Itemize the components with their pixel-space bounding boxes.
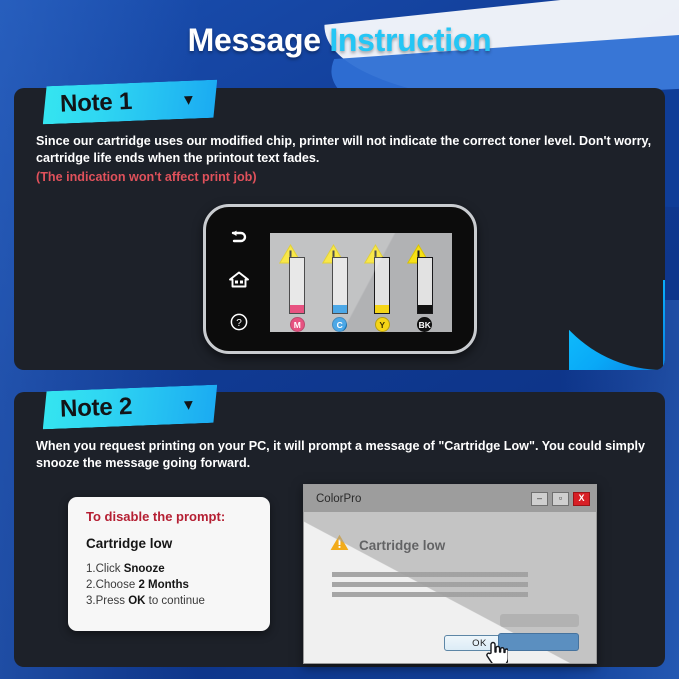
toner-level-list: MCYBK	[270, 233, 452, 332]
disable-prompt-card: To disable the prompt: Cartridge low 1.C…	[68, 497, 270, 631]
minimize-icon[interactable]: –	[531, 492, 548, 506]
dialog-heading-row: Cartridge low	[330, 534, 445, 556]
chevron-down-icon: ▼	[181, 397, 196, 413]
toner-tank: Y	[367, 257, 397, 332]
maximize-icon[interactable]: ▫	[552, 492, 569, 506]
toner-tube	[289, 257, 305, 314]
list-item: 1.Click Snooze	[86, 561, 254, 577]
note1-body-text: Since our cartridge uses our modified ch…	[36, 134, 651, 165]
toner-color-badge: Y	[375, 317, 390, 332]
list-item: 2.Choose 2 Months	[86, 577, 254, 593]
note1-tab[interactable]: Note 1 ▼	[41, 80, 218, 125]
dialog-placeholder-lines	[332, 572, 528, 602]
note1-corner-glow	[569, 280, 665, 370]
toner-tube	[417, 257, 433, 314]
placeholder-line	[332, 582, 528, 587]
chevron-down-icon: ▼	[181, 92, 196, 108]
disable-prompt-title: To disable the prompt:	[86, 509, 254, 524]
home-icon[interactable]	[229, 271, 249, 288]
printer-control-panel: ? MCYBK	[203, 204, 477, 354]
cartridge-low-dialog: ColorPro – ▫ X Cartridge low OK	[303, 484, 597, 664]
disable-prompt-subtitle: Cartridge low	[86, 536, 254, 551]
dialog-heading: Cartridge low	[359, 538, 445, 553]
instruction-graphic: Message Instruction Note 1 ▼ Since our c…	[0, 0, 679, 679]
note1-body: Since our cartridge uses our modified ch…	[36, 133, 664, 186]
dialog-window-buttons: – ▫ X	[531, 492, 590, 506]
toner-color-badge: BK	[417, 317, 432, 332]
toner-tank: M	[282, 257, 312, 332]
toner-tank: BK	[410, 257, 440, 332]
printer-screen: MCYBK	[270, 233, 452, 332]
dialog-title-bar: ColorPro – ▫ X	[304, 485, 596, 512]
warning-triangle-icon	[330, 534, 349, 556]
close-icon[interactable]: X	[573, 492, 590, 506]
toner-color-badge: C	[332, 317, 347, 332]
toner-fill	[418, 305, 432, 313]
disable-prompt-steps: 1.Click Snooze2.Choose 2 Months3.Press O…	[86, 561, 254, 609]
page-title: Message Instruction	[0, 20, 679, 60]
dialog-title: ColorPro	[316, 493, 361, 505]
note2-tab-label: Note 2	[60, 395, 133, 422]
note1-body-note: (The indication won't affect print job)	[36, 169, 664, 186]
secondary-button[interactable]	[498, 633, 579, 651]
dialog-gray-field	[500, 614, 579, 627]
toner-fill	[290, 305, 304, 313]
note2-body: When you request printing on your PC, it…	[36, 438, 664, 472]
toner-tube	[332, 257, 348, 314]
toner-color-badge: M	[290, 317, 305, 332]
back-arrow-icon[interactable]	[229, 230, 249, 246]
note2-tab[interactable]: Note 2 ▼	[41, 385, 218, 430]
help-icon[interactable]: ?	[230, 313, 248, 331]
note1-tab-label: Note 1	[60, 90, 133, 117]
list-item: 3.Press OK to continue	[86, 593, 254, 609]
svg-text:?: ?	[236, 318, 242, 329]
toner-tank: C	[325, 257, 355, 332]
toner-tube	[374, 257, 390, 314]
toner-fill	[333, 305, 347, 313]
toner-fill	[375, 305, 389, 313]
dialog-body: Cartridge low OK	[304, 512, 596, 663]
page-title-part2: Instruction	[329, 22, 491, 58]
page-title-part1: Message	[188, 22, 321, 58]
placeholder-line	[332, 572, 528, 577]
placeholder-line	[332, 592, 528, 597]
printer-side-icons: ?	[218, 217, 260, 343]
note2-body-text: When you request printing on your PC, it…	[36, 439, 645, 470]
